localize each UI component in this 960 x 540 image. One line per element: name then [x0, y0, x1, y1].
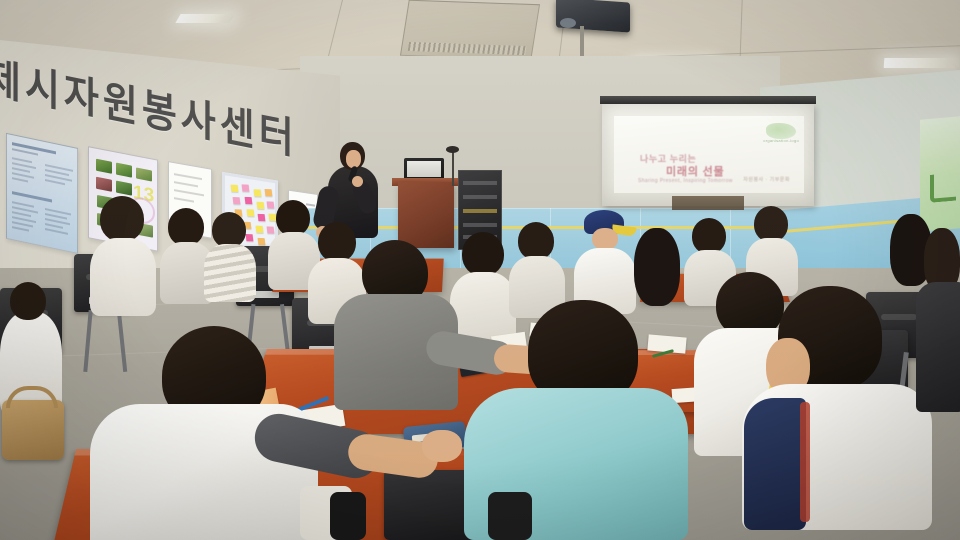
projector-mount [580, 26, 584, 56]
ceiling-light [884, 58, 957, 68]
student-sock [488, 492, 532, 540]
ceiling-light [175, 14, 234, 23]
presenter-hand [352, 176, 363, 187]
student-sock [330, 492, 366, 540]
uniform-navy-panel [744, 398, 806, 530]
green-banner [920, 116, 960, 231]
projector-lens-icon [560, 18, 576, 28]
slide-footer: 자원봉사 · 기부문화 [743, 176, 790, 183]
organisation-logo-icon [766, 123, 796, 139]
poster-blue-info [6, 133, 78, 254]
wall-board [672, 196, 744, 210]
presentation-slide: organisation-logo 나누고 누리는 미래의 선물 Sharing… [614, 116, 804, 193]
uniform-red-trim [800, 402, 810, 522]
ceiling-air-conditioner [400, 0, 540, 60]
slide-logo-label: organisation-logo [763, 138, 799, 143]
slide-subtitle: Sharing Present, Inspiring Tomorrow [638, 178, 733, 184]
classroom-photograph: 제시자원봉사센터 [0, 0, 960, 540]
student-hand [422, 430, 462, 462]
microphone-stand [452, 150, 454, 186]
podium [398, 182, 454, 248]
projection-screen: organisation-logo 나누고 누리는 미래의 선물 Sharing… [602, 104, 814, 206]
slide-title-line2: 미래의 선물 [666, 163, 724, 179]
microphone-icon [446, 146, 459, 153]
screen-housing [600, 96, 816, 104]
handbag [2, 400, 64, 460]
